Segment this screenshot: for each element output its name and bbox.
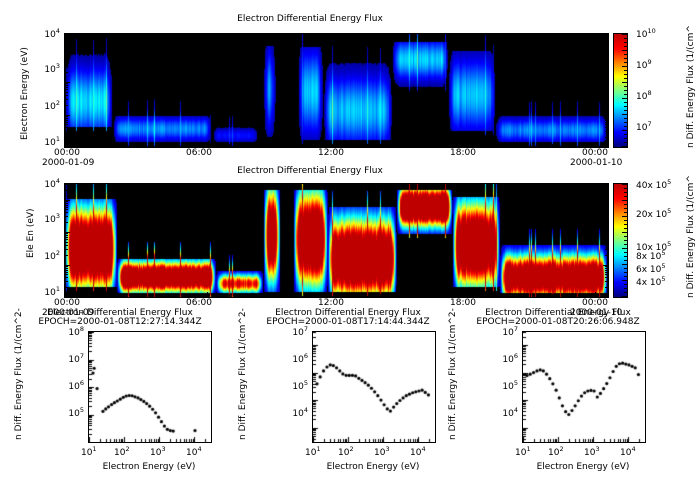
axis-tick [444, 294, 445, 297]
axis-tick [186, 184, 187, 187]
axis-tick [487, 34, 488, 37]
axis-tick [605, 239, 608, 240]
middle-panel-title: Electron Differential Energy Flux [0, 166, 620, 176]
axis-tick [380, 34, 381, 37]
spectrum-1-epoch: EPOCH=2000-01-08T12:27:14.344Z [20, 317, 220, 327]
axis-tick [605, 205, 608, 206]
axis-tick [65, 222, 68, 223]
axis-tick [380, 294, 381, 297]
axis-tick [605, 124, 608, 125]
top-panel-title: Electron Differential Energy Flux [0, 14, 620, 24]
colorbar-tick [622, 264, 627, 265]
axis-tick [65, 115, 70, 116]
colorbar-tick [624, 292, 627, 293]
axis-tick [65, 200, 70, 201]
axis-tick [605, 53, 608, 54]
colorbar-tick [622, 184, 627, 185]
axis-tick [605, 137, 608, 138]
axis-tick [487, 294, 488, 297]
axis-tick [65, 124, 68, 125]
axis-tick [337, 184, 338, 189]
axis-tick [99, 34, 100, 37]
axis-tick [444, 184, 445, 187]
axis-tick [605, 92, 608, 93]
top-colorbar [613, 33, 628, 148]
axis-tick [603, 50, 608, 51]
axis-tick [605, 274, 608, 275]
axis-tick [605, 131, 608, 132]
axis-tick [605, 62, 608, 63]
colorbar-tick [624, 188, 627, 189]
axis-tick [65, 85, 68, 86]
axis-tick [293, 294, 294, 297]
axis-tick [605, 207, 608, 208]
axis-tick [337, 34, 338, 39]
axis-tick [164, 294, 165, 297]
axis-tick [207, 292, 208, 297]
spectrum-3-yticks: 107 106 105 104 [486, 331, 520, 441]
axis-tick [605, 237, 608, 238]
colorbar-tick [624, 272, 627, 273]
spectrum-2-plot [312, 331, 436, 443]
spectrum-1-plot [88, 331, 212, 443]
axis-tick [605, 249, 608, 250]
spectrum-2-yticks: 107 106 105 104 [276, 331, 310, 441]
axis-tick [605, 266, 608, 267]
axis-tick [65, 277, 68, 278]
axis-tick [143, 184, 144, 187]
axis-tick [605, 233, 608, 234]
axis-tick [530, 184, 531, 187]
colorbar-tick [624, 54, 627, 55]
axis-tick [65, 201, 68, 202]
colorbar-tick [624, 78, 627, 79]
axis-tick [509, 34, 510, 37]
axis-tick [65, 137, 68, 138]
axis-tick [164, 34, 165, 37]
axis-tick [143, 144, 144, 147]
axis-tick [315, 144, 316, 147]
axis-tick [65, 105, 68, 106]
colorbar-tick [624, 86, 627, 87]
axis-tick [65, 116, 68, 117]
axis-tick [65, 83, 68, 84]
axis-tick [229, 34, 230, 37]
spectrum-2-epoch: EPOCH=2000-01-08T17:14:44.344Z [248, 317, 448, 327]
axis-tick [574, 184, 575, 187]
axis-tick [65, 207, 68, 208]
colorbar-tick [624, 276, 627, 277]
axis-tick [65, 235, 68, 236]
axis-tick [358, 184, 359, 187]
colorbar-tick [624, 208, 627, 209]
axis-tick [65, 72, 68, 73]
axis-tick [293, 34, 294, 37]
colorbar-tick [624, 46, 627, 47]
axis-tick [65, 127, 68, 128]
axis-tick [65, 274, 68, 275]
axis-tick [530, 144, 531, 147]
axis-tick [605, 122, 608, 123]
colorbar-tick [624, 138, 627, 139]
axis-tick [605, 209, 608, 210]
colorbar-tick [622, 66, 627, 67]
axis-tick [401, 184, 402, 187]
axis-tick [603, 82, 608, 83]
colorbar-tick [622, 98, 627, 99]
axis-tick [293, 184, 294, 187]
axis-tick [65, 82, 70, 83]
axis-tick [605, 203, 608, 204]
axis-tick [65, 216, 68, 217]
axis-tick [293, 144, 294, 147]
colorbar-tick [624, 122, 627, 123]
axis-tick [605, 216, 608, 217]
axis-tick [605, 72, 608, 73]
colorbar-tick [624, 192, 627, 193]
axis-tick [65, 265, 70, 266]
colorbar-tick [624, 220, 627, 221]
axis-tick [401, 294, 402, 297]
axis-tick [65, 268, 68, 269]
colorbar-tick [624, 256, 627, 257]
colorbar-tick [622, 82, 627, 83]
axis-tick [605, 201, 608, 202]
axis-tick [65, 66, 68, 67]
axis-tick [603, 200, 608, 201]
axis-tick [487, 184, 488, 187]
axis-tick [595, 184, 596, 189]
axis-tick [337, 292, 338, 297]
colorbar-tick [624, 204, 627, 205]
axis-tick [530, 34, 531, 37]
axis-tick [65, 99, 68, 100]
spectrum-2-ylabel: n Diff. Energy Flux (1/(cm^2- [238, 308, 248, 440]
axis-tick [65, 239, 68, 240]
axis-tick [605, 281, 608, 282]
colorbar-tick [622, 200, 627, 201]
axis-tick [605, 235, 608, 236]
axis-tick [186, 294, 187, 297]
axis-tick [65, 50, 70, 51]
top-panel-yticks: 104 103 102 101 [28, 33, 62, 146]
axis-tick [121, 184, 122, 187]
axis-tick [65, 232, 70, 233]
axis-tick [272, 294, 273, 297]
axis-tick [605, 190, 608, 191]
spectrum-2-xlabel: Electron Energy (eV) [308, 462, 438, 472]
axis-tick [605, 255, 608, 256]
axis-tick [595, 292, 596, 297]
axis-tick [337, 142, 338, 147]
axis-tick [605, 57, 608, 58]
colorbar-tick [624, 240, 627, 241]
colorbar-tick [624, 42, 627, 43]
axis-tick [65, 255, 68, 256]
axis-tick [65, 118, 68, 119]
axis-tick [65, 266, 68, 267]
axis-tick [605, 105, 608, 106]
colorbar-tick [622, 280, 627, 281]
colorbar-tick [624, 70, 627, 71]
axis-tick [444, 144, 445, 147]
axis-tick [605, 99, 608, 100]
axis-tick [65, 245, 68, 246]
axis-tick [530, 294, 531, 297]
axis-tick [509, 294, 510, 297]
axis-tick [65, 237, 68, 238]
axis-tick [315, 294, 316, 297]
axis-tick [466, 184, 467, 189]
axis-tick [605, 34, 608, 35]
colorbar-tick [624, 212, 627, 213]
colorbar-tick [624, 196, 627, 197]
axis-tick [164, 184, 165, 187]
axis-tick [65, 87, 68, 88]
colorbar-tick [624, 126, 627, 127]
axis-tick [423, 294, 424, 297]
axis-tick [595, 34, 596, 39]
axis-tick [605, 55, 608, 56]
colorbar-tick [624, 260, 627, 261]
axis-tick [605, 40, 608, 41]
spectrum-1-yticks: 108 107 106 105 [52, 331, 86, 441]
axis-tick [423, 144, 424, 147]
axis-tick [574, 144, 575, 147]
axis-tick [250, 144, 251, 147]
axis-tick [423, 34, 424, 37]
axis-tick [605, 270, 608, 271]
axis-tick [99, 294, 100, 297]
axis-tick [272, 34, 273, 37]
axis-tick [605, 212, 608, 213]
axis-tick [65, 270, 68, 271]
spectrum-1-xlabel: Electron Energy (eV) [84, 462, 214, 472]
axis-tick [65, 34, 68, 35]
axis-tick [78, 184, 79, 189]
axis-tick [186, 34, 187, 37]
axis-tick [65, 242, 68, 243]
spectrum-3-ylabel: n Diff. Energy Flux (1/(cm^2- [448, 308, 458, 440]
axis-tick [250, 294, 251, 297]
colorbar-tick [624, 288, 627, 289]
axis-tick [315, 34, 316, 37]
colorbar-tick [622, 248, 627, 249]
axis-tick [423, 184, 424, 187]
axis-tick [229, 184, 230, 187]
colorbar-tick [624, 134, 627, 135]
axis-tick [99, 144, 100, 147]
middle-panel-yticks: 104 103 102 101 [28, 183, 62, 296]
axis-tick [65, 184, 68, 185]
axis-tick [65, 205, 68, 206]
axis-tick [65, 55, 68, 56]
axis-tick [466, 34, 467, 39]
axis-tick [574, 294, 575, 297]
spectrum-1-ylabel: n Diff. Energy Flux (1/(cm^2- [14, 308, 24, 440]
axis-tick [605, 120, 608, 121]
colorbar-tick [622, 216, 627, 217]
axis-tick [605, 89, 608, 90]
colorbar-tick [624, 228, 627, 229]
colorbar-tick [624, 244, 627, 245]
axis-tick [605, 116, 608, 117]
axis-tick [358, 294, 359, 297]
spectrum-3-xlabel: Electron Energy (eV) [518, 462, 648, 472]
spectrum-3-plot [522, 331, 646, 443]
axis-tick [207, 34, 208, 39]
axis-tick [65, 233, 68, 234]
top-spectrogram-plot [64, 33, 609, 148]
axis-tick [552, 184, 553, 187]
axis-tick [605, 83, 608, 84]
axis-tick [552, 294, 553, 297]
axis-tick [605, 277, 608, 278]
axis-tick [509, 184, 510, 187]
axis-tick [65, 122, 68, 123]
colorbar-tick [624, 58, 627, 59]
axis-tick [186, 144, 187, 147]
axis-tick [358, 144, 359, 147]
axis-tick [250, 184, 251, 187]
axis-tick [65, 209, 68, 210]
colorbar-tick [624, 74, 627, 75]
axis-tick [143, 294, 144, 297]
axis-tick [65, 272, 68, 273]
colorbar-tick [622, 114, 627, 115]
axis-tick [121, 34, 122, 37]
axis-tick [78, 142, 79, 147]
axis-tick [466, 292, 467, 297]
axis-tick [605, 127, 608, 128]
axis-tick [65, 212, 68, 213]
axis-tick [603, 232, 608, 233]
colorbar-tick [624, 284, 627, 285]
axis-tick [605, 95, 608, 96]
middle-colorbar [613, 183, 628, 298]
axis-tick [229, 144, 230, 147]
colorbar-tick [624, 38, 627, 39]
axis-tick [401, 34, 402, 37]
colorbar-tick [622, 146, 627, 147]
axis-tick [272, 184, 273, 187]
axis-tick [207, 142, 208, 147]
axis-tick [65, 120, 68, 121]
axis-tick [605, 59, 608, 60]
axis-tick [605, 222, 608, 223]
axis-tick [65, 249, 68, 250]
axis-tick [605, 184, 608, 185]
axis-tick [466, 142, 467, 147]
axis-tick [605, 272, 608, 273]
colorbar-tick [624, 102, 627, 103]
axis-tick [65, 203, 68, 204]
colorbar-tick [624, 118, 627, 119]
axis-tick [65, 40, 68, 41]
colorbar-tick [622, 50, 627, 51]
middle-colorbar-label: n Diff. Energy Flux (1/(cm^ [686, 175, 696, 298]
axis-tick [358, 34, 359, 37]
colorbar-tick [624, 90, 627, 91]
axis-tick [65, 89, 68, 90]
axis-tick [605, 287, 608, 288]
colorbar-tick [622, 130, 627, 131]
top-colorbar-label: n Diff. Energy Flux (1/(cm^ [686, 25, 696, 148]
axis-tick [65, 51, 68, 52]
axis-tick [65, 190, 68, 191]
axis-tick [207, 184, 208, 189]
colorbar-tick [624, 62, 627, 63]
axis-tick [595, 142, 596, 147]
middle-spectrogram-plot [64, 183, 609, 298]
colorbar-tick [624, 252, 627, 253]
colorbar-tick [622, 232, 627, 233]
colorbar-tick [624, 236, 627, 237]
axis-tick [380, 144, 381, 147]
axis-tick [65, 281, 68, 282]
colorbar-tick [624, 142, 627, 143]
axis-tick [605, 242, 608, 243]
axis-tick [605, 51, 608, 52]
axis-tick [552, 144, 553, 147]
axis-tick [143, 34, 144, 37]
axis-tick [65, 53, 68, 54]
colorbar-tick [624, 110, 627, 111]
axis-tick [121, 294, 122, 297]
axis-tick [444, 34, 445, 37]
axis-tick [605, 118, 608, 119]
axis-tick [401, 144, 402, 147]
axis-tick [65, 59, 68, 60]
axis-tick [380, 184, 381, 187]
axis-tick [65, 62, 68, 63]
colorbar-tick [624, 94, 627, 95]
axis-tick [164, 144, 165, 147]
axis-tick [605, 245, 608, 246]
axis-tick [229, 294, 230, 297]
axis-tick [487, 144, 488, 147]
axis-tick [605, 66, 608, 67]
axis-tick [603, 115, 608, 116]
axis-tick [605, 85, 608, 86]
axis-tick [315, 184, 316, 187]
axis-tick [78, 34, 79, 39]
axis-tick [603, 265, 608, 266]
colorbar-tick [624, 224, 627, 225]
axis-tick [99, 184, 100, 187]
axis-tick [605, 87, 608, 88]
axis-tick [65, 57, 68, 58]
axis-tick [552, 34, 553, 37]
axis-tick [65, 131, 68, 132]
axis-tick [509, 144, 510, 147]
axis-tick [65, 95, 68, 96]
axis-tick [121, 144, 122, 147]
colorbar-tick [622, 296, 627, 297]
colorbar-tick [624, 268, 627, 269]
axis-tick [605, 268, 608, 269]
colorbar-tick [622, 34, 627, 35]
axis-tick [272, 144, 273, 147]
axis-tick [574, 34, 575, 37]
colorbar-tick [624, 106, 627, 107]
axis-tick [78, 292, 79, 297]
spectrum-3-epoch: EPOCH=2000-01-08T20:26:06.948Z [458, 317, 658, 327]
axis-tick [65, 287, 68, 288]
axis-tick [250, 34, 251, 37]
axis-tick [65, 92, 68, 93]
